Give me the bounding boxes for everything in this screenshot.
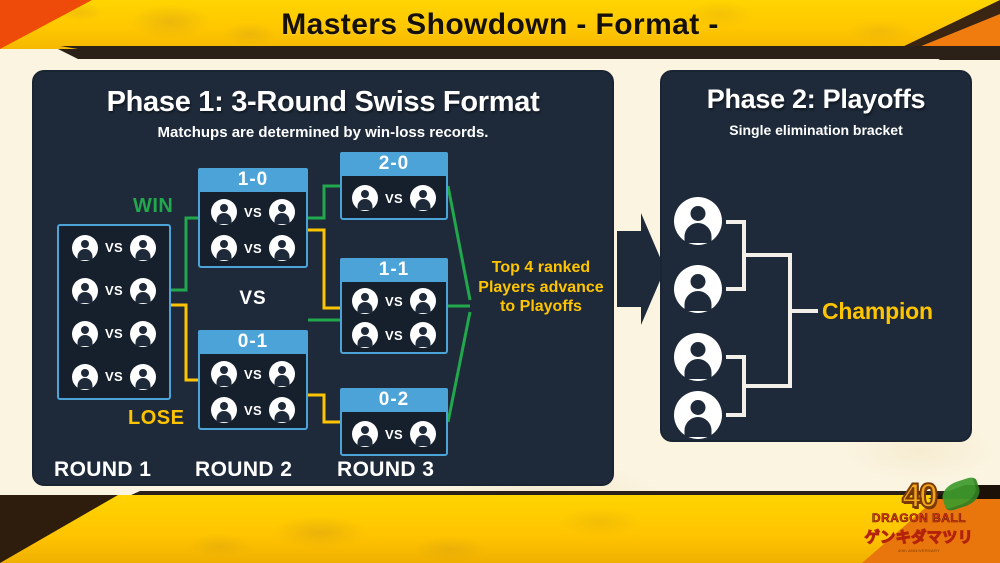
win-path-label: WIN [133, 195, 173, 218]
player-avatar-icon [410, 322, 436, 348]
matchup-row: VS [200, 235, 306, 261]
matchup-row: VS [59, 364, 169, 390]
record-badge-2-0: 2-0 [340, 152, 448, 176]
player-avatar-icon [130, 364, 156, 390]
round-1-label: ROUND 1 [54, 458, 151, 482]
player-avatar-icon [211, 397, 237, 423]
round-3-group-0-2-matches: VS [342, 414, 446, 454]
matchup-row: VS [59, 278, 169, 304]
logo-dragon-icon [939, 476, 983, 512]
player-avatar-icon [72, 235, 98, 261]
round-2-group-0-1: 0-1 VSVS [198, 330, 308, 430]
phase-2-panel: Phase 2: Playoffs Single elimination bra… [660, 70, 972, 442]
player-avatar-icon [410, 288, 436, 314]
logo-fine-print: 40th ANNIVERSARY [898, 548, 940, 553]
phase-1-subtitle: Matchups are determined by win-loss reco… [34, 124, 612, 141]
record-badge-1-0: 1-0 [198, 168, 308, 192]
player-avatar-icon [72, 321, 98, 347]
phase-1-title: Phase 1: 3-Round Swiss Format [34, 86, 612, 119]
player-avatar-icon [352, 288, 378, 314]
matchup-row: VS [342, 421, 446, 447]
round-1-matches: VSVSVSVS [59, 226, 169, 398]
vs-label: VS [385, 191, 403, 206]
player-avatar-icon [72, 364, 98, 390]
matchup-row: VS [200, 199, 306, 225]
player-avatar-icon [352, 322, 378, 348]
player-avatar-icon [269, 397, 295, 423]
player-avatar-icon [269, 235, 295, 261]
logo-series-name: DRAGON BALL [872, 511, 966, 525]
player-avatar-icon [269, 199, 295, 225]
matchup-row: VS [200, 361, 306, 387]
dragonball-anniversary-logo: 40 DRAGON BALL ゲンキダマツリ 40th ANNIVERSARY [844, 471, 994, 563]
player-avatar-icon [410, 185, 436, 211]
vs-label: VS [244, 403, 262, 418]
vs-label: VS [105, 240, 123, 255]
vs-label: VS [244, 241, 262, 256]
vs-label: VS [385, 328, 403, 343]
round-3-group-1-1: 1-1 VSVS [340, 258, 448, 354]
player-avatar-icon [269, 361, 295, 387]
record-badge-0-2: 0-2 [340, 388, 448, 412]
player-avatar-icon [130, 235, 156, 261]
matchup-row: VS [342, 288, 446, 314]
page-title: Masters Showdown - Format - [0, 0, 1000, 49]
round-2-label: ROUND 2 [195, 458, 292, 482]
vs-label: VS [105, 283, 123, 298]
player-avatar-icon [211, 361, 237, 387]
player-avatar-icon [352, 421, 378, 447]
playoff-avatar [674, 391, 722, 439]
player-avatar-icon [352, 185, 378, 211]
vs-label: VS [244, 205, 262, 220]
vs-label: VS [105, 326, 123, 341]
vs-label: VS [105, 369, 123, 384]
logo-anniversary-number: 40 [902, 481, 936, 512]
phase-2-subtitle: Single elimination bracket [662, 122, 970, 138]
matchup-row: VS [59, 321, 169, 347]
vs-label: VS [385, 294, 403, 309]
round-3-group-2-0: 2-0 VS [340, 152, 448, 220]
vs-label: VS [244, 367, 262, 382]
logo-event-name-jp: ゲンキダマツリ [865, 526, 974, 547]
vs-label: VS [385, 427, 403, 442]
round-3-group-0-2: 0-2 VS [340, 388, 448, 456]
round-3-group-1-1-matches: VSVS [342, 284, 446, 352]
matchup-row: VS [342, 185, 446, 211]
matchup-row: VS [200, 397, 306, 423]
advance-note: Top 4 ranked Players advance to Playoffs [473, 258, 609, 317]
round-3-group-2-0-matches: VS [342, 178, 446, 218]
record-badge-1-1: 1-1 [340, 258, 448, 282]
lose-path-label: LOSE [128, 407, 184, 430]
round-3-label: ROUND 3 [337, 458, 434, 482]
round-2-group-1-0: 1-0 VSVS [198, 168, 308, 268]
matchup-row: VS [59, 235, 169, 261]
champion-label: Champion [822, 298, 933, 325]
playoff-avatar [674, 197, 722, 245]
round-2-group-1-0-matches: VSVS [200, 194, 306, 266]
player-avatar-icon [130, 278, 156, 304]
player-avatar-icon [72, 278, 98, 304]
playoff-avatar [674, 265, 722, 313]
player-avatar-icon [211, 199, 237, 225]
matchup-row: VS [342, 322, 446, 348]
phase-2-title: Phase 2: Playoffs [662, 84, 970, 115]
slide-canvas: Masters Showdown - Format - 40 DRAGON BA… [0, 0, 1000, 563]
player-avatar-icon [211, 235, 237, 261]
round-1-match-group: VSVSVSVS [57, 224, 171, 400]
record-badge-0-1: 0-1 [198, 330, 308, 354]
round-2-separator-vs: VS [198, 288, 308, 310]
round-2-group-0-1-matches: VSVS [200, 356, 306, 428]
phase-transition-arrow-icon [617, 213, 665, 325]
player-avatar-icon [410, 421, 436, 447]
playoff-avatar [674, 333, 722, 381]
player-avatar-icon [130, 321, 156, 347]
top-banner-underline [0, 49, 1000, 59]
